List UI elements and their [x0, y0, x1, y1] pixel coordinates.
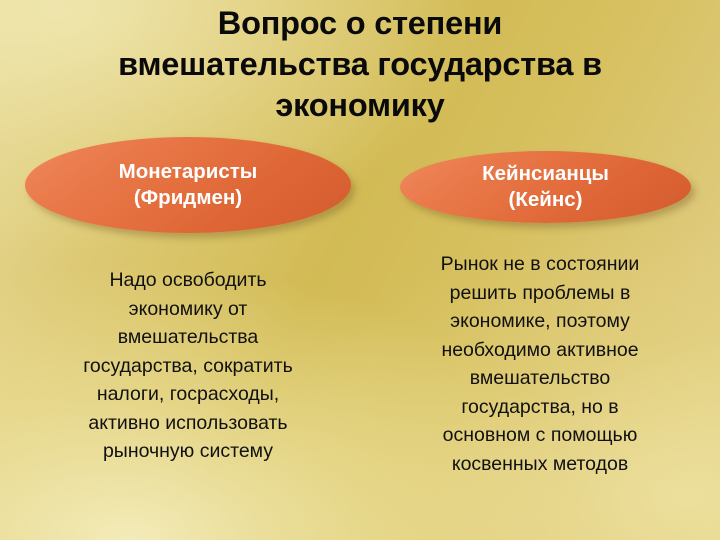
body-text-monetarists: Надо освободить экономику от вмешательст… — [18, 266, 358, 466]
body-line: рыночную систему — [18, 437, 358, 466]
page-title-line-2: вмешательства государства в — [0, 44, 720, 85]
ellipse-label-monetarists-line-1: Монетаристы — [119, 159, 258, 185]
ellipse-label-monetarists: Монетаристы (Фридмен) — [105, 159, 272, 211]
body-line: решить проблемы в — [368, 279, 712, 308]
body-line: Надо освободить — [18, 266, 358, 295]
body-line: вмешательство — [368, 364, 712, 393]
body-line: необходимо активное — [368, 336, 712, 365]
ellipse-label-keynesians-line-2: (Кейнс) — [482, 187, 609, 213]
body-line: активно использовать — [18, 409, 358, 438]
body-text-keynesians: Рынок не в состоянии решить проблемы в э… — [368, 250, 712, 478]
body-line: государства, сократить — [18, 352, 358, 381]
ellipse-label-keynesians-line-1: Кейнсианцы — [482, 161, 609, 187]
body-line: экономике, поэтому — [368, 307, 712, 336]
ellipse-label-keynesians: Кейнсианцы (Кейнс) — [468, 161, 623, 213]
body-line: государства, но в — [368, 393, 712, 422]
body-line: экономику от — [18, 295, 358, 324]
body-line: основном с помощью — [368, 421, 712, 450]
ellipse-label-monetarists-line-2: (Фридмен) — [119, 185, 258, 211]
ellipse-shape-monetarists: Монетаристы (Фридмен) — [25, 137, 351, 233]
body-line: косвенных методов — [368, 450, 712, 479]
slide-canvas: Вопрос о степени вмешательства государст… — [0, 0, 720, 540]
page-title-line-3: экономику — [0, 85, 720, 126]
ellipse-shape-keynesians: Кейнсианцы (Кейнс) — [400, 151, 691, 223]
body-line: вмешательства — [18, 323, 358, 352]
body-line: Рынок не в состоянии — [368, 250, 712, 279]
body-line: налоги, госрасходы, — [18, 380, 358, 409]
page-title-line-1: Вопрос о степени — [0, 3, 720, 44]
page-title: Вопрос о степени вмешательства государст… — [0, 3, 720, 126]
